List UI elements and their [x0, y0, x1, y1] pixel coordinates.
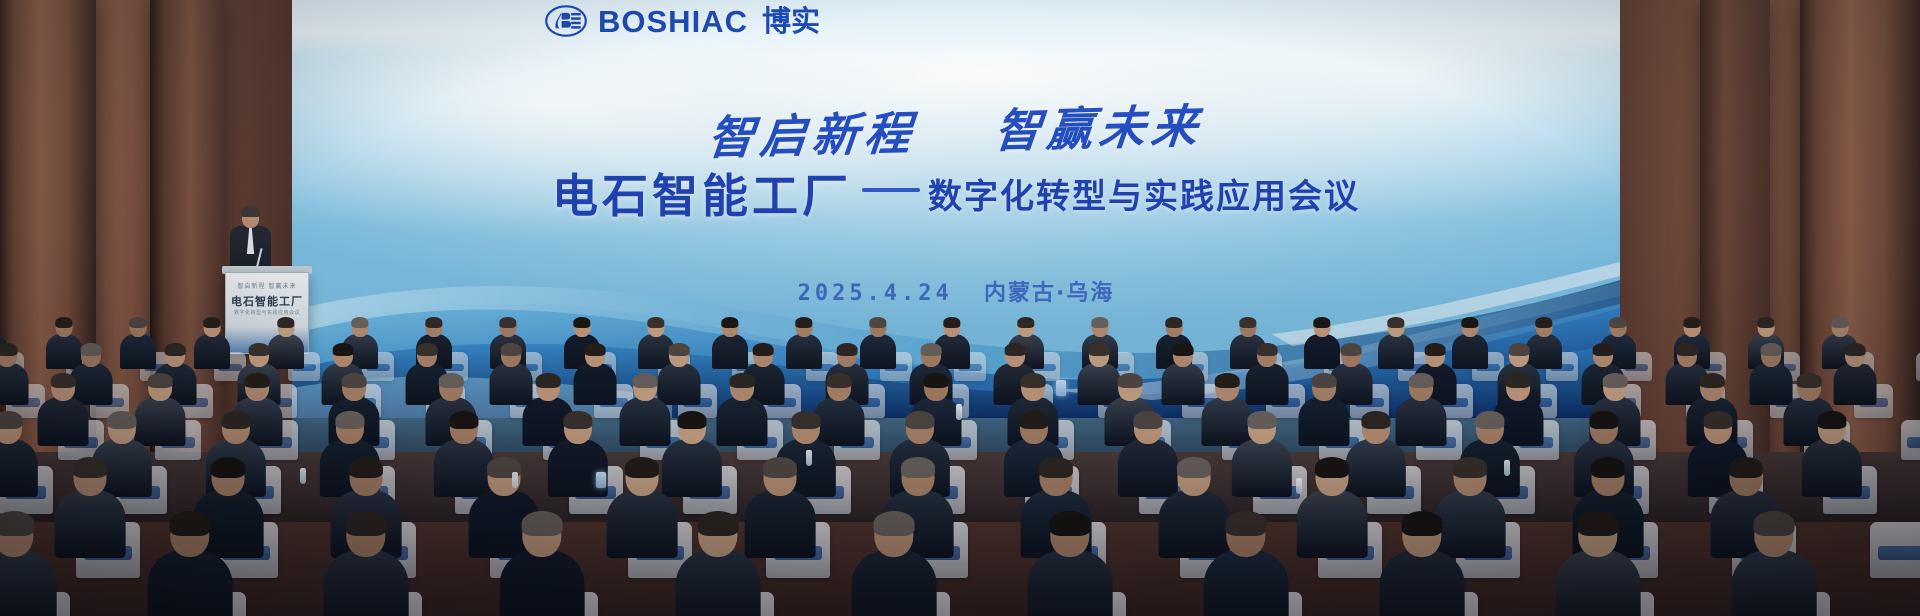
audience-member-hair	[763, 457, 797, 478]
audience-member-hair	[563, 411, 592, 429]
audience-member-torso	[1556, 550, 1641, 616]
audience-member	[0, 344, 31, 402]
audience-member-torso	[574, 363, 617, 404]
audience-member-hair	[1700, 373, 1725, 388]
audience-member-torso	[1297, 490, 1368, 558]
audience-member-hair	[1089, 343, 1110, 356]
audience-member-hair	[869, 317, 886, 328]
audience-member	[51, 458, 129, 553]
audience-member-torso	[37, 397, 88, 446]
audience-member-hair	[585, 343, 606, 356]
audience-member-hair	[573, 317, 590, 328]
audience-member-hair	[677, 411, 706, 429]
audience-chair	[1901, 420, 1920, 460]
audience-area	[0, 300, 1920, 616]
audience-member-hair	[1817, 411, 1846, 429]
audience-member-hair	[1017, 317, 1034, 328]
audience-member	[784, 318, 824, 366]
audience-member-hair	[1509, 343, 1530, 356]
audience-member-hair	[1315, 457, 1349, 478]
audience-member-hair	[1165, 317, 1182, 328]
audience-member-hair	[1683, 317, 1700, 328]
audience-member-hair	[1506, 373, 1531, 388]
audience-member-hair	[1341, 343, 1362, 356]
audience-member-torso	[852, 550, 937, 616]
audience-member-hair	[0, 411, 22, 429]
audience-member	[495, 512, 588, 616]
audience-member-hair	[921, 343, 942, 356]
audience-member	[572, 344, 619, 402]
water-bottle	[806, 450, 812, 466]
audience-member-hair	[345, 511, 386, 536]
audience-member	[143, 512, 236, 616]
water-bottle	[956, 404, 962, 420]
audience-chair	[1870, 522, 1920, 578]
audience-member	[1293, 458, 1371, 553]
audience-member-torso	[786, 334, 822, 369]
audience-member-hair	[1173, 343, 1194, 356]
audience-member-hair	[1577, 511, 1618, 536]
audience-member-hair	[1453, 457, 1487, 478]
audience-member-hair	[425, 317, 442, 328]
audience-member-hair	[791, 411, 820, 429]
audience-member-hair	[0, 343, 18, 356]
audience-member-hair	[1703, 411, 1732, 429]
audience-member-hair	[81, 343, 102, 356]
audience-member	[35, 374, 91, 443]
audience-member-hair	[499, 317, 516, 328]
audience-member-hair	[335, 411, 364, 429]
audience-member-hair	[873, 511, 914, 536]
audience-member-hair	[625, 457, 659, 478]
audience-member	[1023, 512, 1116, 616]
water-bottle	[1504, 460, 1510, 476]
audience-member-hair	[1609, 317, 1626, 328]
audience-member-hair	[1049, 511, 1090, 536]
audience-member-hair	[203, 317, 220, 328]
audience-member-hair	[827, 373, 852, 388]
audience-member-hair	[501, 343, 522, 356]
audience-member	[1199, 512, 1292, 616]
audience-member-hair	[1409, 373, 1434, 388]
audience-member-hair	[1005, 343, 1026, 356]
audience-member-hair	[901, 457, 935, 478]
audience-member-hair	[521, 511, 562, 536]
audience-member-hair	[1118, 373, 1143, 388]
audience-member-torso	[1732, 550, 1817, 616]
screen-brand-bar	[292, 0, 1620, 55]
audience-member-hair	[277, 317, 294, 328]
audience-member-hair	[1039, 457, 1073, 478]
audience-member-hair	[1603, 373, 1628, 388]
audience-member-hair	[1401, 511, 1442, 536]
conference-title-main: 电石智能工厂	[552, 160, 852, 226]
audience-member-torso	[0, 550, 56, 616]
audience-member-hair	[1021, 373, 1046, 388]
audience-member-torso	[0, 439, 38, 497]
audience-member-hair	[55, 317, 72, 328]
boshiac-emblem-icon	[544, 4, 588, 38]
audience-member-hair	[169, 511, 210, 536]
audience-member-torso	[500, 550, 585, 616]
calligraphy-left: 智启新程	[705, 106, 919, 165]
audience-member	[603, 458, 681, 553]
audience-member	[1799, 412, 1866, 493]
audience-member-hair	[697, 511, 738, 536]
audience-member-hair	[129, 317, 146, 328]
audience-member-hair	[1239, 317, 1256, 328]
audience-member-hair	[1091, 317, 1108, 328]
audience-member-hair	[795, 317, 812, 328]
audience-member-hair	[1831, 317, 1848, 328]
audience-member-torso	[548, 439, 608, 497]
audience-member-hair	[1247, 411, 1276, 429]
audience-member-torso	[1802, 439, 1862, 497]
audience-member-hair	[1312, 373, 1337, 388]
audience-member-torso	[148, 550, 233, 616]
audience-member-hair	[924, 373, 949, 388]
audience-member	[1376, 318, 1416, 366]
audience-member-hair	[1797, 373, 1822, 388]
audience-member-torso	[0, 363, 29, 404]
audience-member-hair	[51, 373, 76, 388]
conference-photo: BOSHIAC 博实 智启新程 智赢未来 电石智能工厂 数字化转型与实践应用会议…	[0, 0, 1920, 616]
audience-member-hair	[1387, 317, 1404, 328]
audience-member-hair	[245, 373, 270, 388]
audience-member	[0, 412, 41, 493]
audience-member-hair	[1225, 511, 1266, 536]
audience-member-hair	[1215, 373, 1240, 388]
audience-member-hair	[943, 317, 960, 328]
audience-member-hair	[449, 411, 478, 429]
audience-member-hair	[0, 511, 34, 536]
audience-member-hair	[1591, 457, 1625, 478]
audience-member-hair	[342, 373, 367, 388]
audience-member-torso	[1834, 363, 1877, 404]
phone-screen	[596, 472, 606, 488]
audience-member-hair	[837, 343, 858, 356]
chair-back-band	[1907, 437, 1920, 448]
audience-member-hair	[221, 411, 250, 429]
audience-member-hair	[349, 457, 383, 478]
audience-member-hair	[417, 343, 438, 356]
audience-member-hair	[1361, 411, 1390, 429]
audience-member-hair	[1257, 343, 1278, 356]
conference-title-row: 电石智能工厂 数字化转型与实践应用会议	[292, 160, 1620, 226]
audience-member-hair	[1425, 343, 1446, 356]
audience-member-hair	[73, 457, 107, 478]
calligraphy-gap	[937, 148, 971, 149]
audience-member	[1832, 344, 1879, 402]
audience-chair	[1916, 352, 1920, 381]
audience-member-hair	[1019, 411, 1048, 429]
audience-member-torso	[1204, 550, 1289, 616]
audience-member	[1727, 512, 1820, 616]
audience-member-hair	[211, 457, 245, 478]
audience-member-hair	[1475, 411, 1504, 429]
brand-lockup: BOSHIAC 博实	[544, 4, 820, 38]
water-bottle	[300, 468, 306, 484]
audience-member-hair	[1535, 317, 1552, 328]
audience-member-torso	[1378, 334, 1414, 369]
title-dash-rule	[862, 188, 920, 192]
audience-member-torso	[1380, 550, 1465, 616]
audience-member-torso	[324, 550, 409, 616]
audience-member-hair	[1177, 457, 1211, 478]
audience-member-torso	[607, 490, 678, 558]
audience-member-torso	[194, 334, 230, 369]
audience-member-hair	[249, 343, 270, 356]
audience-member-hair	[439, 373, 464, 388]
audience-member-hair	[1761, 343, 1782, 356]
audience-member-torso	[55, 490, 126, 558]
speaker-figure	[228, 208, 272, 274]
audience-member	[847, 512, 940, 616]
chair-back-band	[1878, 546, 1920, 561]
audience-member-hair	[730, 373, 755, 388]
audience-member-hair	[148, 373, 173, 388]
brand-name-cn: 博实	[762, 7, 820, 36]
audience-member-hair	[1461, 317, 1478, 328]
audience-member	[1375, 512, 1468, 616]
audience-member	[671, 512, 764, 616]
conference-title-sub: 数字化转型与实践应用会议	[928, 169, 1360, 218]
calligraphy-right: 智赢未来	[992, 99, 1206, 158]
audience-member-hair	[1133, 411, 1162, 429]
audience-member-hair	[1729, 457, 1763, 478]
speaker-hair	[241, 206, 260, 217]
audience-member-hair	[1753, 511, 1794, 536]
audience-member-hair	[721, 317, 738, 328]
audience-member-torso	[676, 550, 761, 616]
water-bottle	[1296, 478, 1302, 494]
audience-member	[1229, 412, 1296, 493]
audience-member-hair	[753, 343, 774, 356]
audience-member-hair	[536, 373, 561, 388]
audience-member	[319, 512, 412, 616]
audience-member-hair	[633, 373, 658, 388]
audience-member	[1551, 512, 1644, 616]
audience-member-hair	[1845, 343, 1866, 356]
brand-name-en: BOSHIAC	[598, 6, 748, 37]
audience-member-torso	[1232, 439, 1292, 497]
audience-member-hair	[1589, 411, 1618, 429]
audience-member-hair	[165, 343, 186, 356]
audience-member-torso	[120, 334, 156, 369]
podium-top-line: 智启新程 智赢未来	[226, 281, 308, 290]
audience-member-hair	[1593, 343, 1614, 356]
audience-member-hair	[333, 343, 354, 356]
audience-member-hair	[1313, 317, 1330, 328]
water-bottle	[512, 472, 518, 488]
phone-screen	[1056, 380, 1066, 396]
audience-member-hair	[669, 343, 690, 356]
audience-member-hair	[1677, 343, 1698, 356]
audience-member-torso	[1028, 550, 1113, 616]
audience-member-hair	[647, 317, 664, 328]
audience-member-hair	[1757, 317, 1774, 328]
audience-member-hair	[351, 317, 368, 328]
audience-member	[0, 512, 61, 616]
audience-member-hair	[107, 411, 136, 429]
audience-member-hair	[905, 411, 934, 429]
